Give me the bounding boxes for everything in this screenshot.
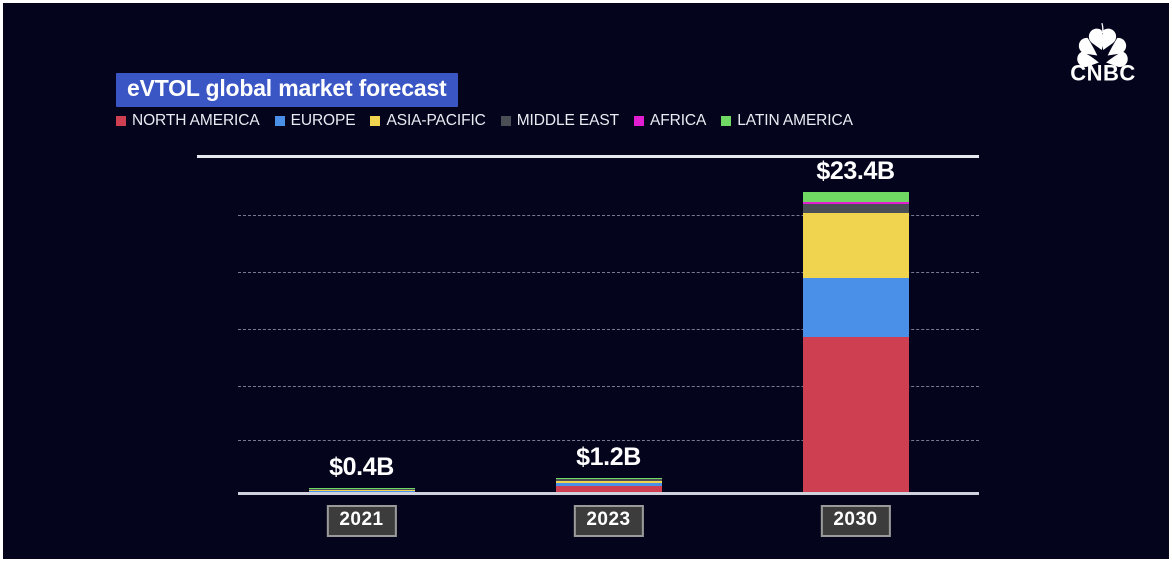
bar-stack: [556, 478, 662, 493]
page-title: eVTOL global market forecast: [127, 75, 447, 101]
legend-item-label: LATIN AMERICA: [737, 113, 853, 129]
bar-group[interactable]: $1.2B: [556, 478, 662, 493]
x-axis-label[interactable]: 2023: [573, 505, 643, 537]
bar-segment[interactable]: [803, 337, 909, 493]
x-axis-labels: 202120232030: [197, 505, 979, 539]
chart-title-bar: eVTOL global market forecast: [116, 73, 458, 107]
bar-value-label: $23.4B: [816, 157, 894, 186]
legend-item-label: EUROPE: [291, 113, 356, 129]
bar-segment[interactable]: [803, 204, 909, 214]
bar-value-label: $0.4B: [329, 453, 394, 482]
legend-item-label: MIDDLE EAST: [517, 113, 619, 129]
legend-item[interactable]: AFRICA: [634, 113, 706, 129]
plot-area: $0.4B$1.2B$23.4B: [197, 155, 979, 493]
legend-swatch-icon: [116, 116, 126, 126]
legend-item[interactable]: NORTH AMERICA: [116, 113, 260, 129]
axis-baseline: [238, 492, 979, 495]
legend-item[interactable]: EUROPE: [275, 113, 356, 129]
cnbc-peacock-icon: CNBC: [1055, 17, 1151, 83]
legend-swatch-icon: [370, 116, 380, 126]
legend-swatch-icon: [275, 116, 285, 126]
bar-series-container: $0.4B$1.2B$23.4B: [197, 155, 979, 493]
legend-item[interactable]: LATIN AMERICA: [721, 113, 853, 129]
x-axis-label[interactable]: 2030: [820, 505, 890, 537]
bar-group[interactable]: $23.4B: [803, 192, 909, 494]
legend-item[interactable]: MIDDLE EAST: [501, 113, 619, 129]
bar-stack: [803, 192, 909, 494]
bar-value-label: $1.2B: [576, 443, 641, 472]
svg-text:CNBC: CNBC: [1070, 61, 1136, 84]
legend-swatch-icon: [721, 116, 731, 126]
legend-item-label: AFRICA: [650, 113, 706, 129]
x-axis-label[interactable]: 2021: [326, 505, 396, 537]
legend-item-label: ASIA-PACIFIC: [386, 113, 485, 129]
bar-segment[interactable]: [803, 213, 909, 277]
bar-segment[interactable]: [803, 192, 909, 202]
legend-swatch-icon: [501, 116, 511, 126]
legend-item[interactable]: ASIA-PACIFIC: [370, 113, 485, 129]
legend-swatch-icon: [634, 116, 644, 126]
bar-segment[interactable]: [803, 278, 909, 337]
chart-legend: NORTH AMERICAEUROPEASIA-PACIFICMIDDLE EA…: [116, 113, 853, 129]
legend-item-label: NORTH AMERICA: [132, 113, 260, 129]
chart-frame: CNBC eVTOL global market forecast NORTH …: [0, 0, 1172, 562]
